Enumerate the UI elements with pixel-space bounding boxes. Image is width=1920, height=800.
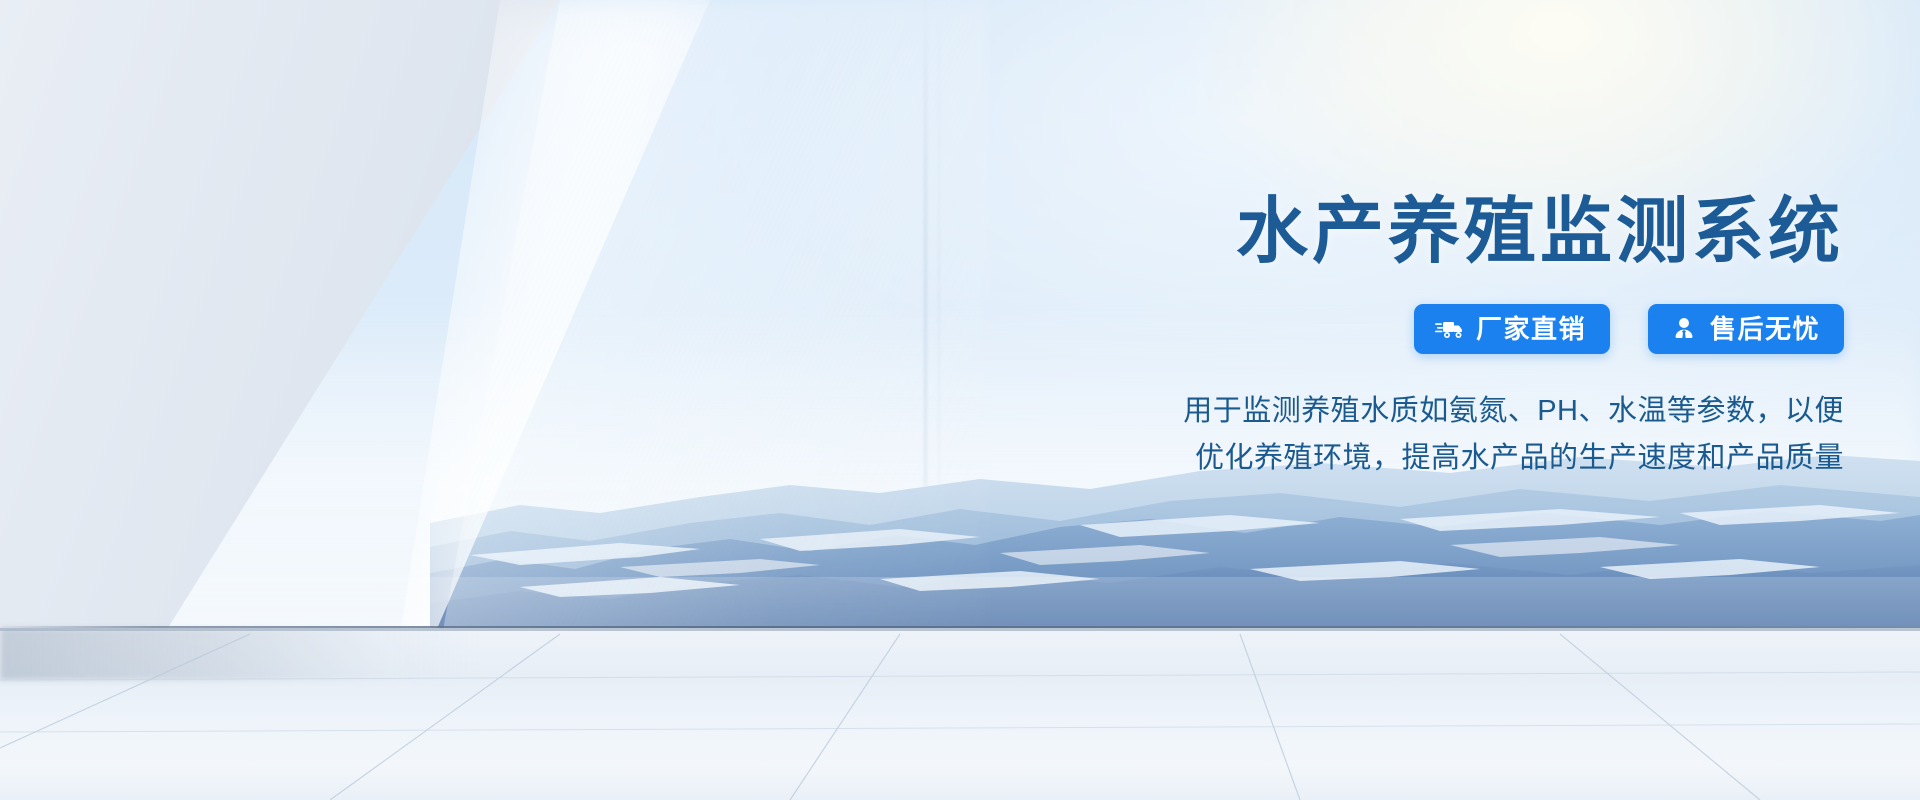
badge-factory-direct[interactable]: 厂家直销 xyxy=(1414,304,1610,354)
customer-service-person-icon xyxy=(1668,316,1700,342)
page-title: 水产养殖监测系统 xyxy=(1004,196,1844,268)
page-description: 用于监测养殖水质如氨氮、PH、水温等参数，以便 优化养殖环境，提高水产品的生产速… xyxy=(1004,388,1844,482)
badge-group: 厂家直销 售后无忧 xyxy=(1004,304,1844,354)
description-line: 用于监测养殖水质如氨氮、PH、水温等参数，以便 xyxy=(1004,388,1844,435)
hero-content: 水产养殖监测系统 xyxy=(1004,196,1844,482)
description-line: 优化养殖环境，提高水产品的生产速度和产品质量 xyxy=(1004,435,1844,482)
hero-banner: 水产养殖监测系统 xyxy=(0,0,1920,800)
badge-label: 售后无忧 xyxy=(1710,316,1820,342)
badge-after-sales[interactable]: 售后无忧 xyxy=(1648,304,1844,354)
plaza-floor xyxy=(0,628,1920,800)
badge-label: 厂家直销 xyxy=(1476,316,1586,342)
delivery-truck-icon xyxy=(1434,316,1466,342)
floor-perspective-lines xyxy=(0,628,1920,800)
